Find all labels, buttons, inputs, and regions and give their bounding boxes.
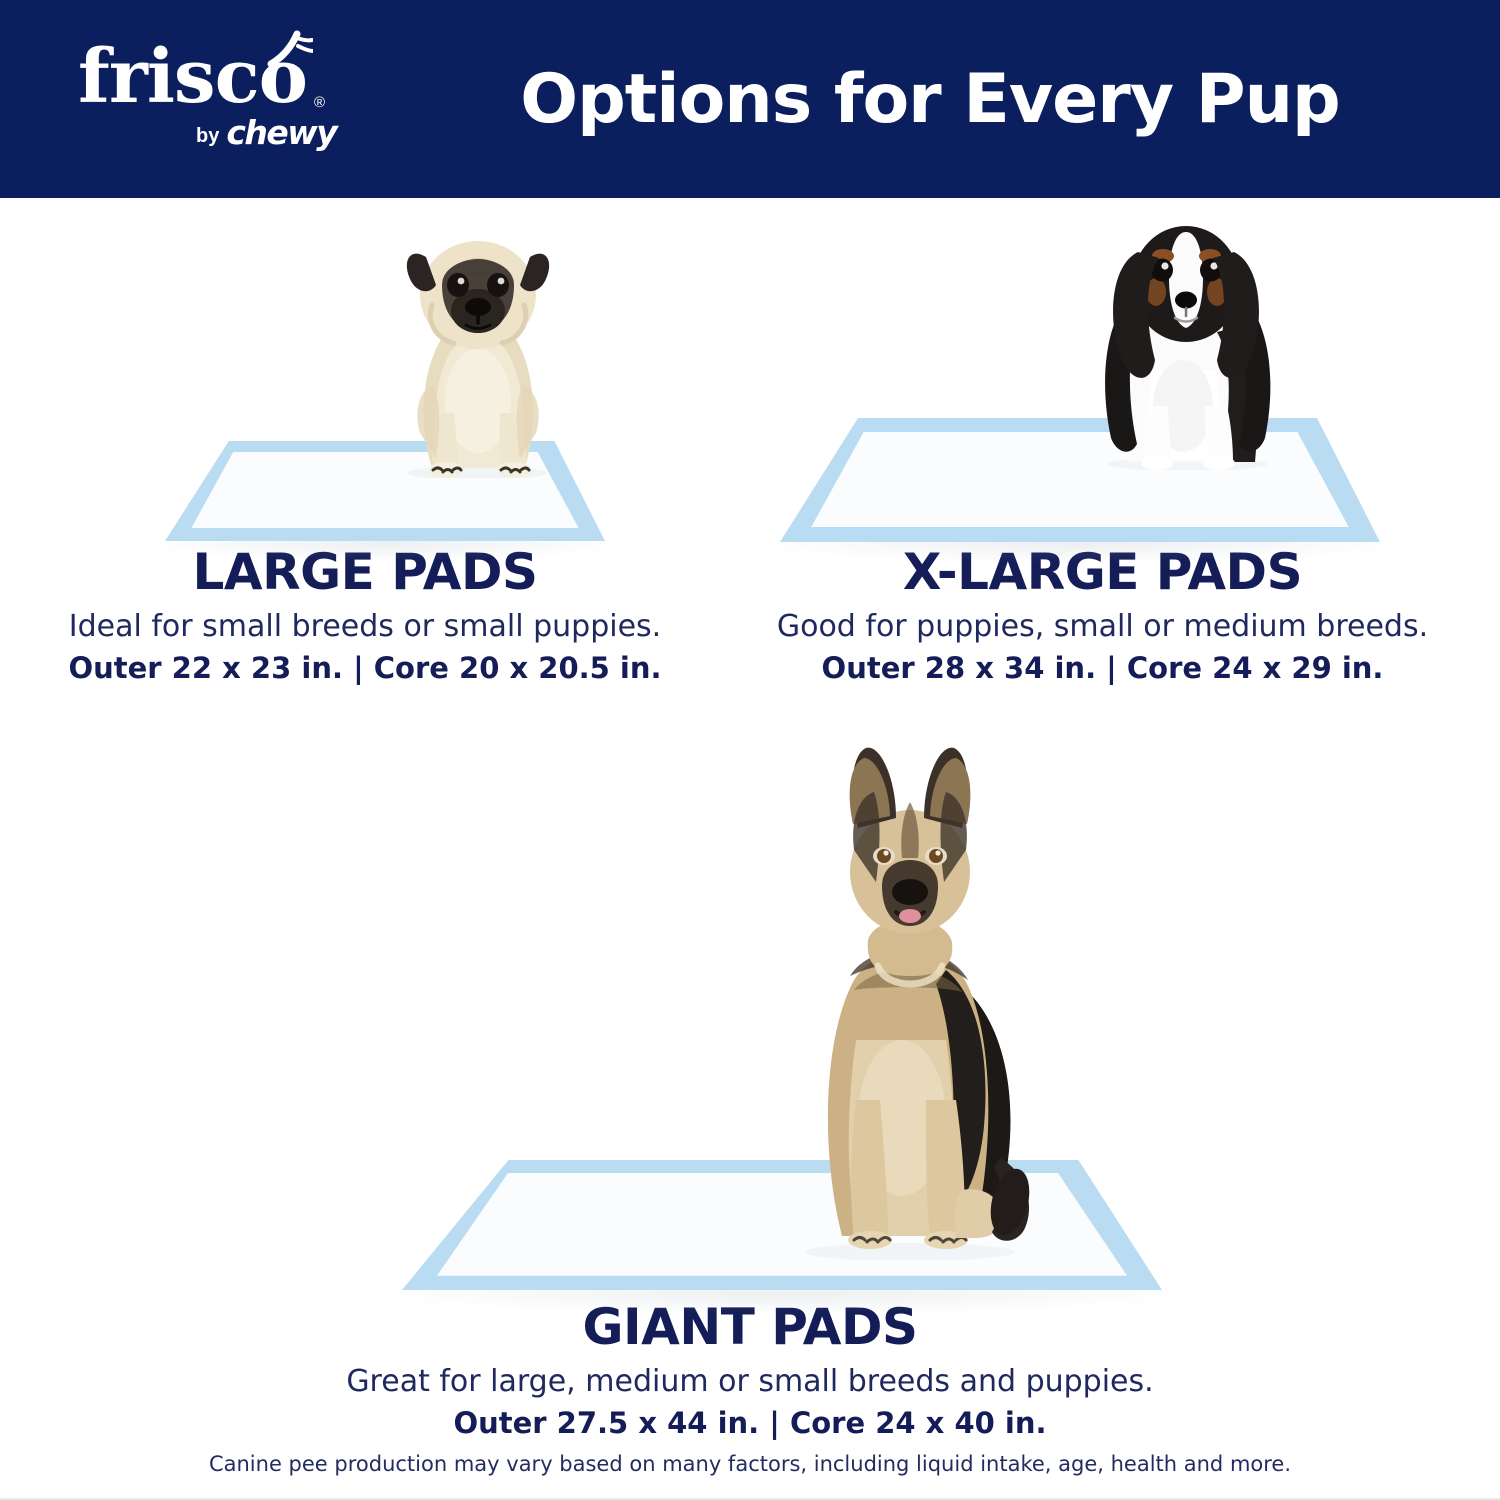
dog-illustration-pug [370,223,585,478]
frisco-wordmark-text: frisco [78,34,307,120]
product-card-xlarge: X-LARGE PADS Good for puppies, small or … [720,200,1485,686]
page-title: Options for Every Pup [430,0,1430,198]
product-card-large: LARGE PADS Ideal for small breeds or sma… [15,215,715,686]
product-dimensions: Outer 27.5 x 44 in. | Core 24 x 40 in. [280,1406,1220,1441]
product-dimensions: Outer 22 x 23 in. | Core 20 x 20.5 in. [15,651,715,686]
infographic-page: frisco ® by chewy Options for Every Pup [0,0,1500,1500]
by-chewy-lockup: by chewy [196,116,378,149]
product-title: X-LARGE PADS [720,545,1485,599]
product-description: Ideal for small breeds or small puppies. [15,609,715,645]
frisco-brand-logo: frisco ® by chewy [78,40,378,162]
product-title: LARGE PADS [15,545,715,599]
product-scene-large [15,215,715,545]
disclaimer-text: Canine pee production may vary based on … [0,1452,1500,1476]
registered-trademark-icon: ® [314,95,324,110]
dog-illustration-german-shepherd [750,740,1070,1260]
product-scene-giant [280,740,1220,1300]
chewy-wordmark: chewy [226,116,336,149]
product-text-xlarge: X-LARGE PADS Good for puppies, small or … [720,545,1485,686]
product-text-large: LARGE PADS Ideal for small breeds or sma… [15,545,715,686]
by-label: by [196,126,219,149]
frisco-wordmark: frisco ® [78,40,307,114]
header-banner: frisco ® by chewy Options for Every Pup [0,0,1500,198]
product-description: Good for puppies, small or medium breeds… [720,609,1485,645]
product-dimensions: Outer 28 x 34 in. | Core 24 x 29 in. [720,651,1485,686]
product-description: Great for large, medium or small breeds … [280,1364,1220,1400]
product-scene-xlarge [720,200,1485,545]
product-title: GIANT PADS [280,1300,1220,1354]
product-text-giant: GIANT PADS Great for large, medium or sm… [280,1300,1220,1441]
product-card-giant: GIANT PADS Great for large, medium or sm… [280,740,1220,1441]
dog-illustration-cavalier-king-charles-spaniel [1055,200,1320,470]
